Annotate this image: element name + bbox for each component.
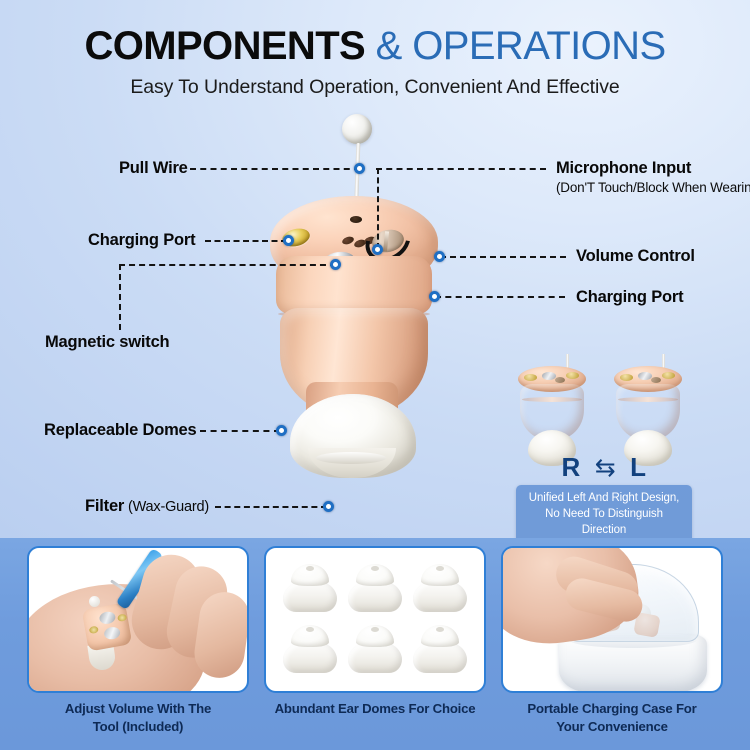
mini-gold-contact-icon	[662, 372, 675, 379]
mini-magnetic-switch-icon	[542, 372, 556, 380]
callout-line-microphone-down	[377, 168, 379, 249]
unified-design-caption-line2: No Need To Distinguish Direction	[522, 507, 686, 539]
label-magnetic-switch: Magnetic switch	[45, 333, 169, 352]
page-title: COMPONENTS & OPERATIONS	[0, 26, 750, 68]
panel-caption-charging-case: Portable Charging Case For Your Convenie…	[494, 700, 730, 736]
label-volume-control-text: Volume Control	[576, 247, 695, 265]
label-charging-port-right: Charging Port	[576, 288, 683, 307]
panel-charging-case[interactable]	[501, 546, 723, 693]
aid-contact-icon	[89, 626, 99, 634]
page-subtitle: Easy To Understand Operation, Convenient…	[0, 76, 750, 99]
callout-line-pull-wire	[190, 168, 360, 170]
panel-caption-line2: Tool (Included)	[20, 718, 256, 736]
r-l-indicator: R ⇆ L	[514, 452, 694, 483]
ear-dome-item	[346, 564, 404, 614]
callout-line-filter	[215, 506, 327, 508]
mini-volume-dial-icon	[555, 377, 565, 383]
label-pull-wire-text: Pull Wire	[119, 159, 188, 177]
label-filter-sub: (Wax-Guard)	[124, 499, 209, 515]
panel-caption-line1: Abundant Ear Domes For Choice	[257, 700, 493, 718]
title-components: COMPONENTS	[84, 24, 365, 68]
label-magnetic-switch-text: Magnetic switch	[45, 333, 169, 351]
aid-dial-icon	[103, 626, 121, 641]
callout-line-volume-control	[440, 256, 566, 258]
label-charging-port-right-text: Charging Port	[576, 288, 683, 306]
ear-dome-ring	[316, 452, 386, 464]
label-charging-port-left: Charging Port	[88, 231, 195, 250]
l-letter: L	[630, 452, 646, 483]
hearing-aid-in-hand	[82, 602, 133, 651]
label-filter-text: Filter	[85, 497, 124, 515]
panel-ear-domes[interactable]	[264, 546, 486, 693]
callout-line-microphone-top	[376, 168, 546, 170]
label-charging-port-left-text: Charging Port	[88, 231, 195, 249]
callout-dot-magnetic-switch	[330, 259, 341, 270]
aid-contact-icon	[117, 614, 127, 622]
label-pull-wire: Pull Wire	[119, 159, 188, 178]
callout-dot-charging-port-right	[429, 291, 440, 302]
callout-line-replaceable-domes	[200, 430, 280, 432]
panel-caption-ear-domes: Abundant Ear Domes For Choice	[257, 700, 493, 718]
infographic-page: COMPONENTS & OPERATIONS Easy To Understa…	[0, 0, 750, 750]
mini-gold-contact-icon	[524, 374, 537, 381]
aid-switch-icon	[98, 610, 116, 625]
callout-dot-pull-wire	[354, 163, 365, 174]
bottom-feature-band: Adjust Volume With The Tool (Included) A…	[0, 538, 750, 750]
panel-caption-line2: Your Convenience	[494, 718, 730, 736]
panel-caption-adjust-volume: Adjust Volume With The Tool (Included)	[20, 700, 256, 736]
label-replaceable-domes-text: Replaceable Domes	[44, 421, 197, 439]
ear-dome-item	[346, 625, 404, 675]
label-volume-control: Volume Control	[576, 247, 695, 266]
unified-design-caption: Unified Left And Right Design, No Need T…	[516, 485, 692, 546]
ear-domes-grid	[266, 548, 484, 691]
mini-gold-contact-icon	[620, 374, 633, 381]
callout-line-magnetic-switch	[119, 264, 336, 266]
callout-dot-replaceable-domes	[276, 425, 287, 436]
pull-wire-anchor	[350, 216, 362, 223]
label-microphone-input-text: Microphone Input	[556, 159, 691, 177]
label-microphone-input-note: (Don'T Touch/Block When Wearing)	[556, 180, 750, 195]
callout-line-charging-port-left	[205, 240, 287, 242]
panel-caption-line1: Adjust Volume With The	[20, 700, 256, 718]
mini-seam	[522, 397, 582, 402]
callout-dot-volume-control	[434, 251, 445, 262]
callout-dot-microphone	[372, 244, 383, 255]
mini-seam	[618, 397, 678, 402]
panel-adjust-volume[interactable]	[27, 546, 249, 693]
panel-caption-line1: Portable Charging Case For	[494, 700, 730, 718]
hearing-aid-device	[268, 196, 440, 426]
pull-wire-ball	[342, 114, 372, 144]
header: COMPONENTS & OPERATIONS Easy To Understa…	[0, 0, 750, 99]
label-filter: Filter (Wax-Guard)	[85, 497, 209, 516]
callout-dot-filter	[323, 501, 334, 512]
swap-arrows-icon: ⇆	[595, 453, 616, 483]
pull-wire-bead	[89, 596, 100, 607]
mini-magnetic-switch-icon	[638, 372, 652, 380]
ear-dome-item	[411, 564, 469, 614]
label-replaceable-domes: Replaceable Domes	[44, 421, 197, 440]
label-microphone-input: Microphone Input (Don'T Touch/Block When…	[556, 159, 750, 195]
callout-dot-charging-port-left	[283, 235, 294, 246]
title-operations: & OPERATIONS	[376, 24, 666, 68]
mini-volume-dial-icon	[651, 377, 661, 383]
callout-line-magnetic-switch-riser	[119, 264, 121, 330]
ear-dome-item	[411, 625, 469, 675]
unified-design-caption-line1: Unified Left And Right Design,	[522, 491, 686, 507]
r-letter: R	[561, 452, 580, 483]
ear-dome-item	[281, 564, 339, 614]
mini-gold-contact-icon	[566, 372, 579, 379]
ear-dome-item	[281, 625, 339, 675]
callout-line-charging-port-right	[435, 296, 565, 298]
